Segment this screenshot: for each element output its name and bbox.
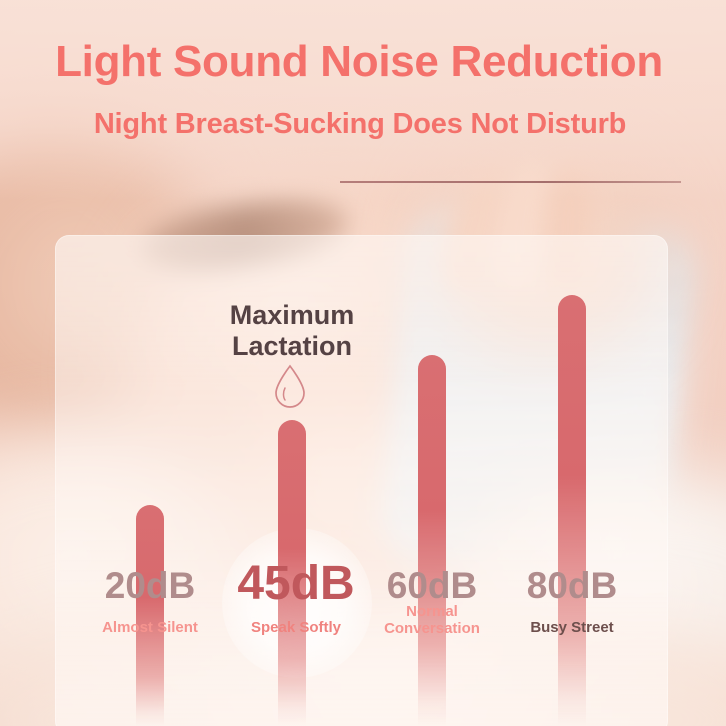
callout-line-1: Maximum bbox=[196, 300, 388, 331]
bar-almost-silent bbox=[136, 505, 164, 726]
maximum-lactation-callout: Maximum Lactation bbox=[196, 300, 388, 363]
page-title: Light Sound Noise Reduction bbox=[0, 40, 718, 84]
value-label-busy-street: 80dB bbox=[512, 567, 632, 604]
callout-line-2: Lactation bbox=[196, 331, 388, 362]
caption-speak-softly: Speak Softly bbox=[231, 620, 361, 637]
water-drop-icon bbox=[272, 363, 308, 409]
page-subtitle: Night Breast-Sucking Does Not Disturb bbox=[0, 110, 720, 139]
caption-busy-street: Busy Street bbox=[507, 620, 637, 637]
header-divider bbox=[340, 181, 681, 183]
bar-busy-street bbox=[558, 295, 586, 726]
value-label-almost-silent: 20dB bbox=[90, 567, 210, 604]
value-label-speak-softly: 45dB bbox=[225, 560, 367, 608]
caption-normal-conversation: Normal Conversation bbox=[367, 604, 497, 638]
caption-almost-silent: Almost Silent bbox=[85, 620, 215, 637]
bar-normal-conversation bbox=[418, 355, 446, 726]
value-label-normal-conversation: 60dB bbox=[372, 567, 492, 604]
infographic-banner: Light Sound Noise Reduction Night Breast… bbox=[0, 0, 726, 726]
